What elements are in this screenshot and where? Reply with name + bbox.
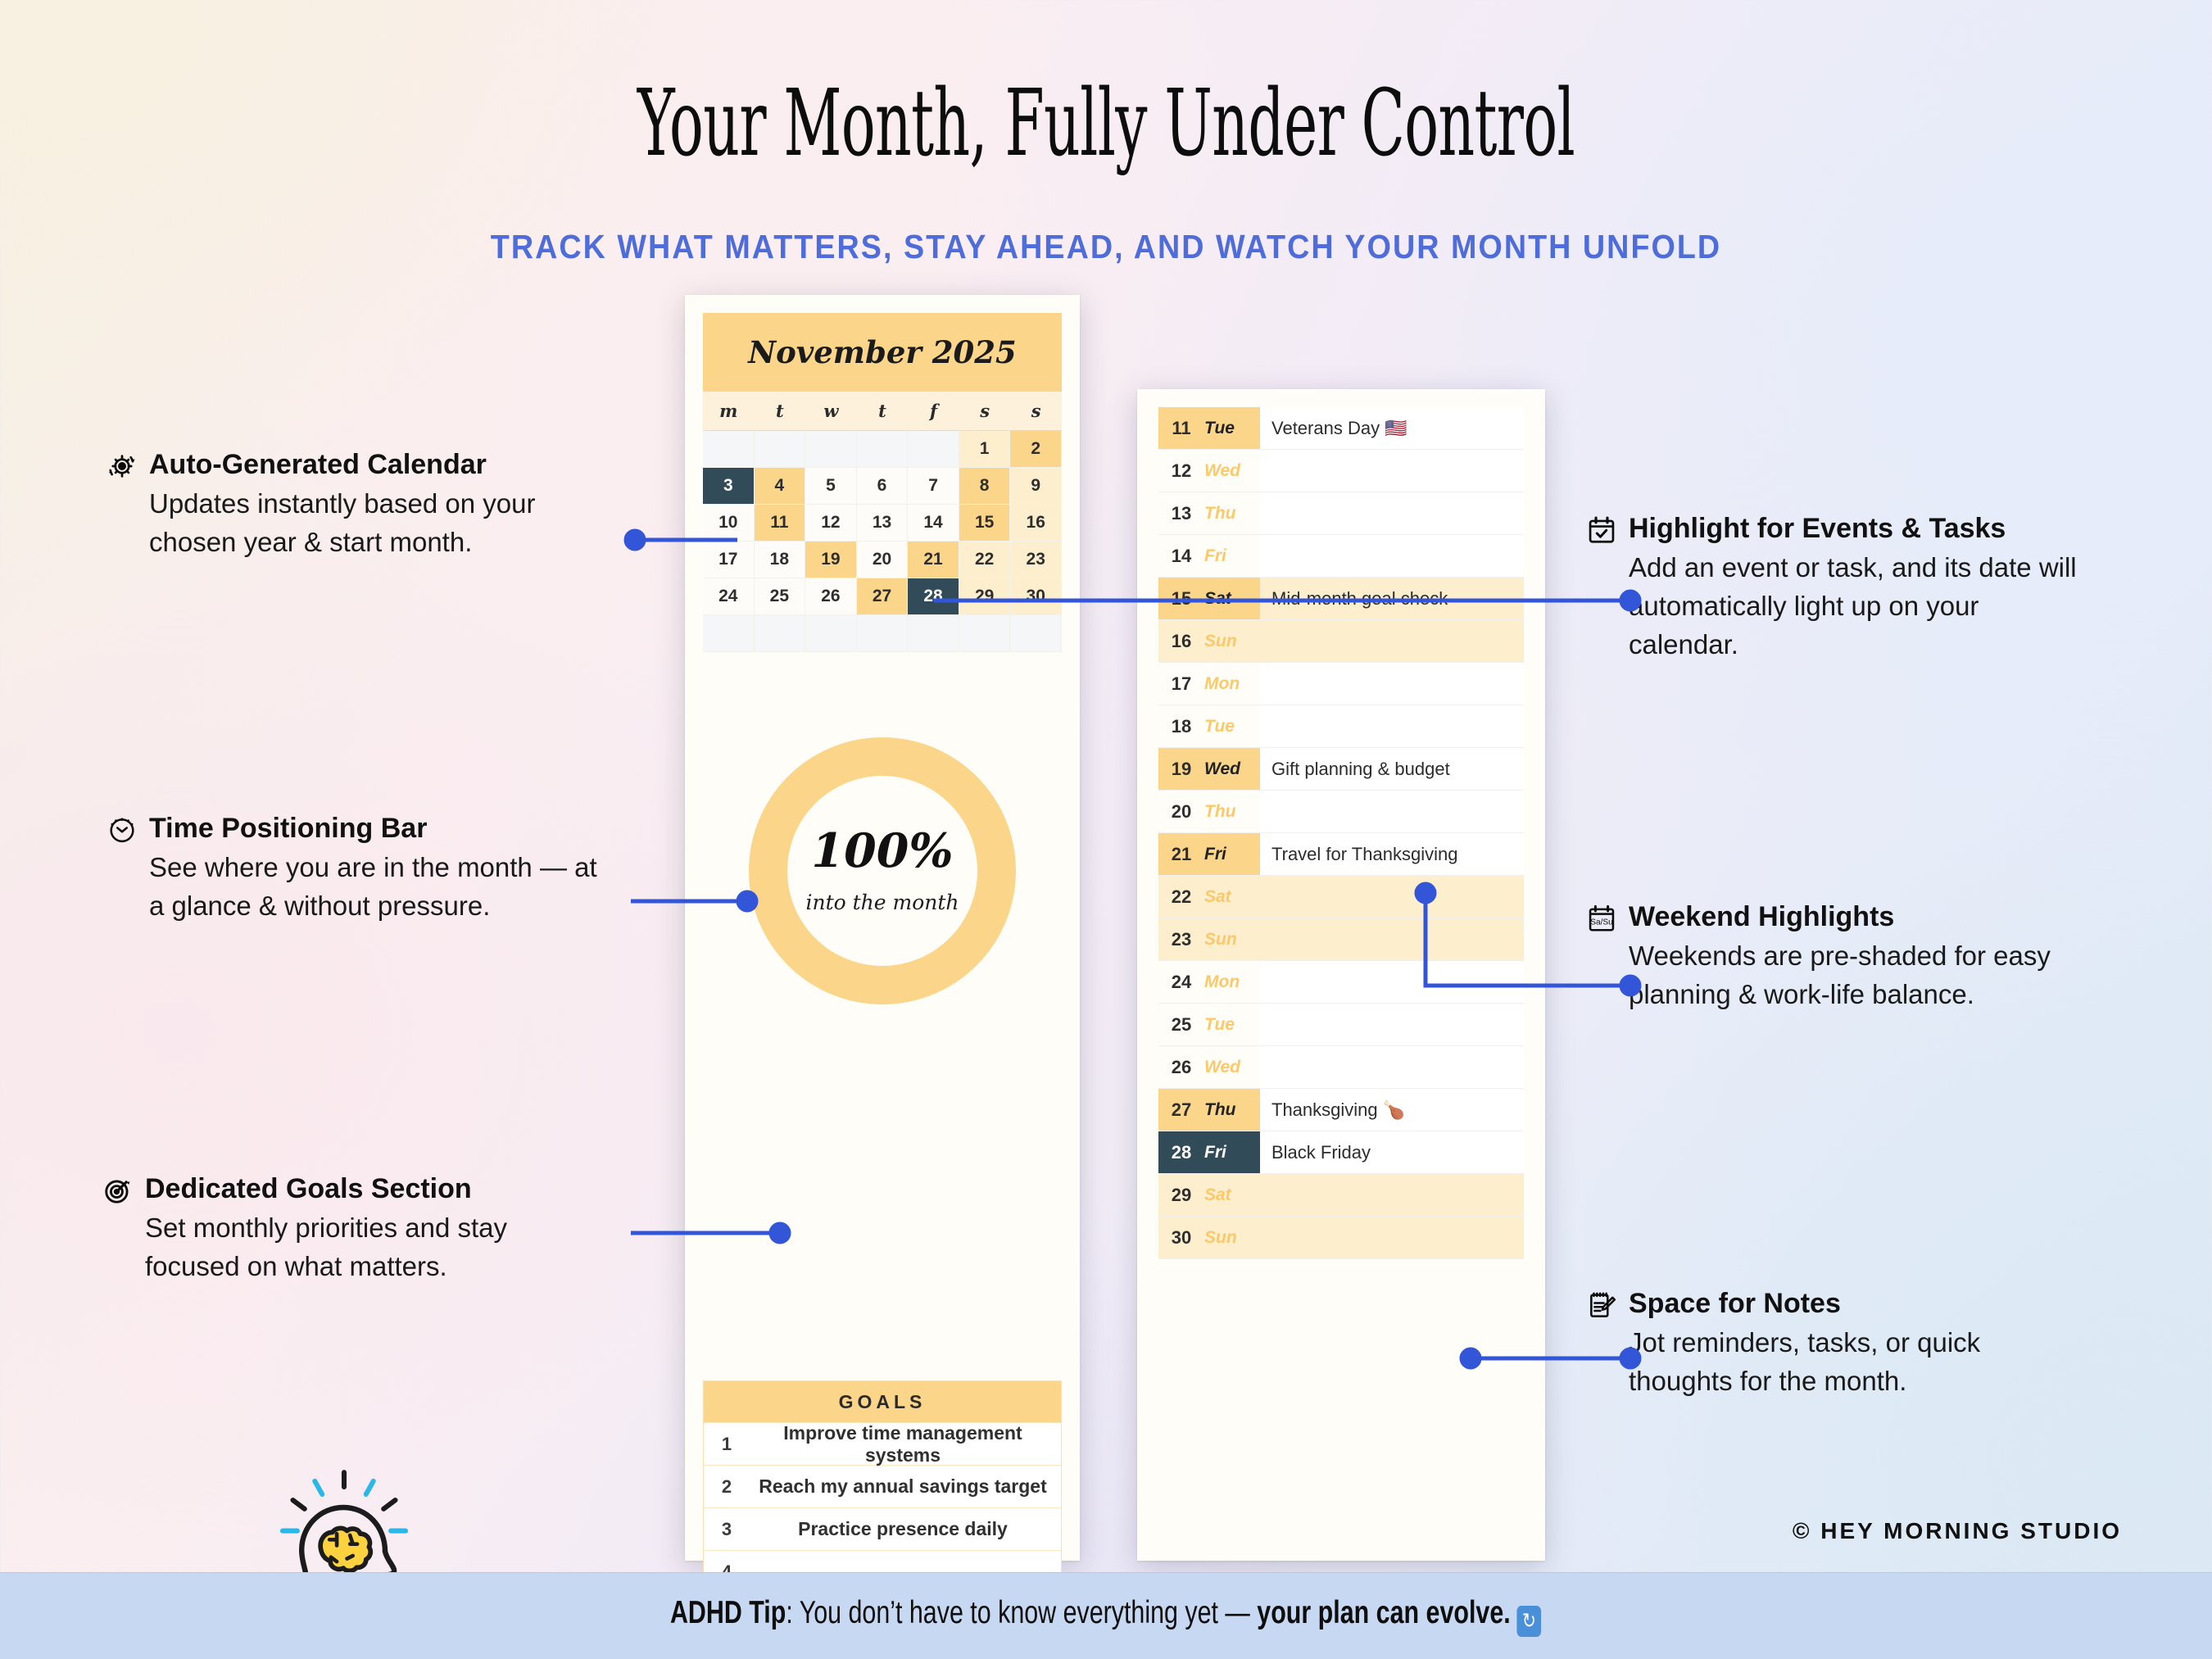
day-event-text[interactable]	[1260, 663, 1524, 705]
day-chip: 29Sat	[1158, 1174, 1260, 1216]
day-event-text[interactable]	[1260, 791, 1524, 832]
day-event-text[interactable]: Mid-month goal check	[1260, 578, 1524, 619]
calendar-empty-cell	[857, 431, 909, 468]
annotation-body: See where you are in the month — at a gl…	[107, 849, 598, 926]
calendar-empty-cell	[959, 615, 1011, 652]
goal-row-text[interactable]: Practice presence daily	[750, 1518, 1061, 1540]
calendar-day-cell[interactable]: 20	[857, 542, 909, 578]
annotation-auto-generated-calendar: Auto-Generated Calendar Updates instantl…	[107, 449, 565, 562]
calendar-empty-cell	[908, 431, 959, 468]
day-number: 11	[1158, 418, 1204, 439]
annotation-weekend-highlights: Sa/Su Weekend Highlights Weekends are pr…	[1586, 901, 2078, 1014]
day-event-text[interactable]: Travel for Thanksgiving	[1260, 833, 1524, 875]
day-chip: 14Fri	[1158, 535, 1260, 577]
goal-row[interactable]: 1Improve time management systems	[704, 1422, 1061, 1465]
day-number: 30	[1158, 1227, 1204, 1249]
calendar-empty-cell	[755, 431, 806, 468]
calendar-weekday-3: t	[857, 392, 909, 430]
calendar-day-cell[interactable]: 30	[1010, 578, 1062, 615]
calendar-empty-cell	[755, 615, 806, 652]
day-event-text[interactable]: Gift planning & budget	[1260, 748, 1524, 790]
day-list-row[interactable]: 15SatMid-month goal check	[1158, 578, 1524, 620]
day-list-row[interactable]: 29Sat	[1158, 1174, 1524, 1217]
tip-body: : You don’t have to know everything yet …	[786, 1595, 1258, 1630]
day-weekday: Sun	[1204, 930, 1260, 950]
progress-ring-track: 100% into the month	[749, 737, 1016, 1004]
calendar-day-cell[interactable]: 17	[703, 542, 755, 578]
day-chip: 23Sun	[1158, 918, 1260, 960]
goal-row-number: 3	[704, 1519, 750, 1540]
day-list-row[interactable]: 18Tue	[1158, 705, 1524, 748]
gear-refresh-icon	[107, 451, 138, 482]
calendar-empty-cell	[857, 615, 909, 652]
day-list-row[interactable]: 13Thu	[1158, 492, 1524, 535]
day-number: 28	[1158, 1142, 1204, 1163]
day-chip: 20Thu	[1158, 791, 1260, 832]
daylist-panel: 11TueVeterans Day 🇺🇸12Wed13Thu14Fri15Sat…	[1137, 389, 1545, 1561]
day-weekday: Fri	[1204, 1143, 1260, 1163]
day-weekday: Wed	[1204, 759, 1260, 779]
calendar-day-cell[interactable]: 19	[805, 542, 857, 578]
day-list-row[interactable]: 23Sun	[1158, 918, 1524, 961]
day-chip: 12Wed	[1158, 450, 1260, 492]
calendar-day-cell[interactable]: 9	[1010, 468, 1062, 505]
calendar-day-cell[interactable]: 14	[908, 505, 959, 542]
day-weekday: Sun	[1204, 632, 1260, 651]
annotation-title: Space for Notes	[1629, 1288, 1841, 1319]
day-number: 12	[1158, 460, 1204, 482]
day-chip: 18Tue	[1158, 705, 1260, 747]
calendar-day-cell[interactable]: 2	[1010, 431, 1062, 468]
day-weekday: Thu	[1204, 504, 1260, 524]
day-list-row[interactable]: 30Sun	[1158, 1217, 1524, 1259]
day-number: 22	[1158, 886, 1204, 908]
calendar-panel: November 2025 mtwtfss 123456789101112131…	[685, 295, 1080, 1561]
day-list-row[interactable]: 22Sat	[1158, 876, 1524, 918]
clock-icon	[107, 814, 138, 845]
goal-row[interactable]: 2Reach my annual savings target	[704, 1465, 1061, 1507]
day-list-row[interactable]: 16Sun	[1158, 620, 1524, 663]
annotation-highlight-for-events-tasks: Highlight for Events & Tasks Add an even…	[1586, 513, 2094, 664]
day-weekday: Fri	[1204, 546, 1260, 566]
calendar-day-cell[interactable]: 12	[805, 505, 857, 542]
day-chip: 28Fri	[1158, 1131, 1260, 1173]
goal-row-text[interactable]: Reach my annual savings target	[750, 1475, 1061, 1498]
goal-row-number: 1	[704, 1434, 750, 1455]
calendar-day-cell[interactable]: 5	[805, 468, 857, 505]
calendar-day-cell[interactable]: 23	[1010, 542, 1062, 578]
calendar-sasu-icon: Sa/Su	[1586, 903, 1617, 934]
day-list[interactable]: 11TueVeterans Day 🇺🇸12Wed13Thu14Fri15Sat…	[1158, 407, 1524, 1285]
calendar-weekday-6: s	[1010, 392, 1062, 430]
day-list-row[interactable]: 17Mon	[1158, 663, 1524, 705]
day-weekday: Wed	[1204, 1058, 1260, 1077]
calendar-widget: November 2025 mtwtfss 123456789101112131…	[703, 313, 1062, 652]
calendar-weekday-5: s	[959, 392, 1011, 430]
day-list-row[interactable]: 19WedGift planning & budget	[1158, 748, 1524, 791]
day-list-row[interactable]: 11TueVeterans Day 🇺🇸	[1158, 407, 1524, 450]
calendar-empty-cell	[703, 431, 755, 468]
annotation-title: Dedicated Goals Section	[145, 1173, 472, 1204]
day-number: 25	[1158, 1014, 1204, 1036]
day-chip: 27Thu	[1158, 1089, 1260, 1131]
calendar-weekday-2: w	[805, 392, 857, 430]
calendar-day-cell[interactable]: 15	[959, 505, 1011, 542]
target-dart-icon	[102, 1175, 134, 1206]
refresh-badge-icon: ↻	[1517, 1606, 1542, 1637]
progress-caption: into the month	[805, 891, 959, 914]
calendar-day-cell[interactable]: 10	[703, 505, 755, 542]
tip-emphasis: your plan can evolve.	[1258, 1595, 1511, 1630]
calendar-weekday-header: mtwtfss	[703, 392, 1062, 431]
calendar-day-cell[interactable]: 11	[755, 505, 806, 542]
day-chip: 30Sun	[1158, 1217, 1260, 1258]
day-list-spacer	[1158, 1259, 1524, 1285]
day-number: 19	[1158, 759, 1204, 780]
calendar-day-cell[interactable]: 8	[959, 468, 1011, 505]
day-list-row[interactable]: 21FriTravel for Thanksgiving	[1158, 833, 1524, 876]
day-number: 24	[1158, 972, 1204, 993]
calendar-day-cell[interactable]: 25	[755, 578, 806, 615]
calendar-empty-cell	[703, 615, 755, 652]
day-event-text[interactable]	[1260, 535, 1524, 577]
footer-tip-bar: ADHD Tip: You don’t have to know everyth…	[0, 1572, 2212, 1659]
annotation-title: Highlight for Events & Tasks	[1629, 513, 2006, 544]
day-list-row[interactable]: 27ThuThanksgiving 🍗	[1158, 1089, 1524, 1131]
day-number: 26	[1158, 1057, 1204, 1078]
progress-ring-inner: 100% into the month	[787, 776, 977, 966]
day-weekday: Mon	[1204, 674, 1260, 694]
progress-percent: 100%	[811, 827, 953, 874]
goal-row[interactable]: 3Practice presence daily	[704, 1507, 1061, 1550]
day-weekday: Tue	[1204, 419, 1260, 438]
annotation-body: Updates instantly based on your chosen y…	[107, 485, 565, 562]
day-weekday: Mon	[1204, 972, 1260, 992]
annotation-title: Time Positioning Bar	[149, 813, 427, 844]
calendar-empty-cell	[908, 615, 959, 652]
footer-tip-text: ADHD Tip: You don’t have to know everyth…	[670, 1595, 1541, 1637]
annotation-space-for-notes: Space for Notes Jot reminders, tasks, or…	[1586, 1288, 2078, 1401]
calendar-day-cell[interactable]: 1	[959, 431, 1011, 468]
day-chip: 24Mon	[1158, 961, 1260, 1003]
calendar-check-icon	[1586, 514, 1617, 546]
day-chip: 25Tue	[1158, 1004, 1260, 1045]
day-list-row[interactable]: 25Tue	[1158, 1004, 1524, 1046]
month-progress-ring: 100% into the month	[685, 737, 1080, 1004]
calendar-day-cell[interactable]: 26	[805, 578, 857, 615]
calendar-month-title: November 2025	[703, 313, 1062, 392]
copyright-credit: © HEY MORNING STUDIO	[1793, 1518, 2122, 1544]
calendar-day-cell[interactable]: 21	[908, 542, 959, 578]
day-event-text[interactable]	[1260, 1174, 1524, 1216]
calendar-empty-cell	[805, 615, 857, 652]
annotation-title: Weekend Highlights	[1629, 901, 1894, 932]
day-weekday: Thu	[1204, 802, 1260, 822]
day-event-text[interactable]	[1260, 1046, 1524, 1088]
day-event-text[interactable]: Veterans Day 🇺🇸	[1260, 407, 1524, 449]
day-chip: 16Sun	[1158, 620, 1260, 662]
calendar-day-cell[interactable]: 24	[703, 578, 755, 615]
day-number: 16	[1158, 631, 1204, 652]
calendar-weekday-0: m	[703, 392, 755, 430]
annotation-body: Add an event or task, and its date will …	[1586, 549, 2094, 664]
day-number: 29	[1158, 1185, 1204, 1206]
goal-row-number: 2	[704, 1476, 750, 1498]
day-number: 13	[1158, 503, 1204, 524]
day-event-text[interactable]	[1260, 450, 1524, 492]
calendar-day-cell[interactable]: 7	[908, 468, 959, 505]
day-weekday: Sun	[1204, 1228, 1260, 1248]
calendar-weekday-1: t	[755, 392, 806, 430]
day-event-text[interactable]: Thanksgiving 🍗	[1260, 1089, 1524, 1131]
day-chip: 19Wed	[1158, 748, 1260, 790]
page-subtitle: TRACK WHAT MATTERS, STAY AHEAD, AND WATC…	[88, 228, 2124, 266]
goals-heading: GOALS	[704, 1381, 1061, 1422]
calendar-day-cell[interactable]: 28	[908, 578, 959, 615]
day-event-text[interactable]	[1260, 492, 1524, 534]
calendar-day-cell[interactable]: 27	[857, 578, 909, 615]
calendar-day-cell[interactable]: 18	[755, 542, 806, 578]
calendar-day-cell[interactable]: 29	[959, 578, 1011, 615]
day-chip: 26Wed	[1158, 1046, 1260, 1088]
day-chip: 22Sat	[1158, 876, 1260, 918]
day-number: 18	[1158, 716, 1204, 737]
annotation-dedicated-goals-section: Dedicated Goals Section Set monthly prio…	[102, 1173, 602, 1286]
day-weekday: Sat	[1204, 589, 1260, 609]
notepad-pencil-icon	[1586, 1290, 1617, 1321]
day-list-row[interactable]: 24Mon	[1158, 961, 1524, 1004]
annotation-body: Jot reminders, tasks, or quick thoughts …	[1586, 1324, 2078, 1401]
annotation-body: Weekends are pre-shaded for easy plannin…	[1586, 937, 2078, 1014]
day-list-row[interactable]: 12Wed	[1158, 450, 1524, 492]
day-list-row[interactable]: 26Wed	[1158, 1046, 1524, 1089]
day-list-row[interactable]: 28FriBlack Friday	[1158, 1131, 1524, 1174]
day-number: 14	[1158, 546, 1204, 567]
calendar-day-grid[interactable]: 1234567891011121314151617181920212223242…	[703, 431, 1062, 652]
tip-label: ADHD Tip	[670, 1595, 786, 1630]
day-weekday: Tue	[1204, 1015, 1260, 1035]
day-list-row[interactable]: 20Thu	[1158, 791, 1524, 833]
day-number: 15	[1158, 588, 1204, 610]
svg-text:Sa/Su: Sa/Su	[1590, 918, 1613, 927]
day-weekday: Tue	[1204, 717, 1260, 737]
day-event-text[interactable]	[1260, 876, 1524, 918]
day-number: 21	[1158, 844, 1204, 865]
day-weekday: Sat	[1204, 887, 1260, 907]
day-event-text[interactable]	[1260, 1004, 1524, 1045]
calendar-day-cell[interactable]: 3	[703, 468, 755, 505]
annotation-title: Auto-Generated Calendar	[149, 449, 487, 480]
day-number: 27	[1158, 1099, 1204, 1121]
calendar-day-cell[interactable]: 13	[857, 505, 909, 542]
day-event-text[interactable]	[1260, 1217, 1524, 1258]
day-chip: 15Sat	[1158, 578, 1260, 619]
day-chip: 11Tue	[1158, 407, 1260, 449]
day-list-row[interactable]: 14Fri	[1158, 535, 1524, 578]
day-chip: 21Fri	[1158, 833, 1260, 875]
day-number: 20	[1158, 801, 1204, 823]
calendar-empty-cell	[805, 431, 857, 468]
calendar-empty-cell	[1010, 615, 1062, 652]
page-title: Your Month, Fully Under Control	[420, 78, 1792, 170]
day-event-text[interactable]: Black Friday	[1260, 1131, 1524, 1173]
day-chip: 17Mon	[1158, 663, 1260, 705]
day-number: 23	[1158, 929, 1204, 950]
day-event-text[interactable]	[1260, 918, 1524, 960]
annotation-body: Set monthly priorities and stay focused …	[102, 1209, 602, 1286]
calendar-day-cell[interactable]: 4	[755, 468, 806, 505]
calendar-weekday-4: f	[908, 392, 959, 430]
day-weekday: Sat	[1204, 1185, 1260, 1205]
day-weekday: Fri	[1204, 845, 1260, 864]
calendar-day-cell[interactable]: 16	[1010, 505, 1062, 542]
annotation-time-positioning-bar: Time Positioning Bar See where you are i…	[107, 813, 598, 926]
day-chip: 13Thu	[1158, 492, 1260, 534]
day-weekday: Wed	[1204, 461, 1260, 481]
day-event-text[interactable]	[1260, 961, 1524, 1003]
day-weekday: Thu	[1204, 1100, 1260, 1120]
calendar-day-cell[interactable]: 22	[959, 542, 1011, 578]
goal-row-text[interactable]: Improve time management systems	[750, 1422, 1061, 1466]
day-number: 17	[1158, 673, 1204, 695]
calendar-day-cell[interactable]: 6	[857, 468, 909, 505]
day-event-text[interactable]	[1260, 705, 1524, 747]
day-event-text[interactable]	[1260, 620, 1524, 662]
